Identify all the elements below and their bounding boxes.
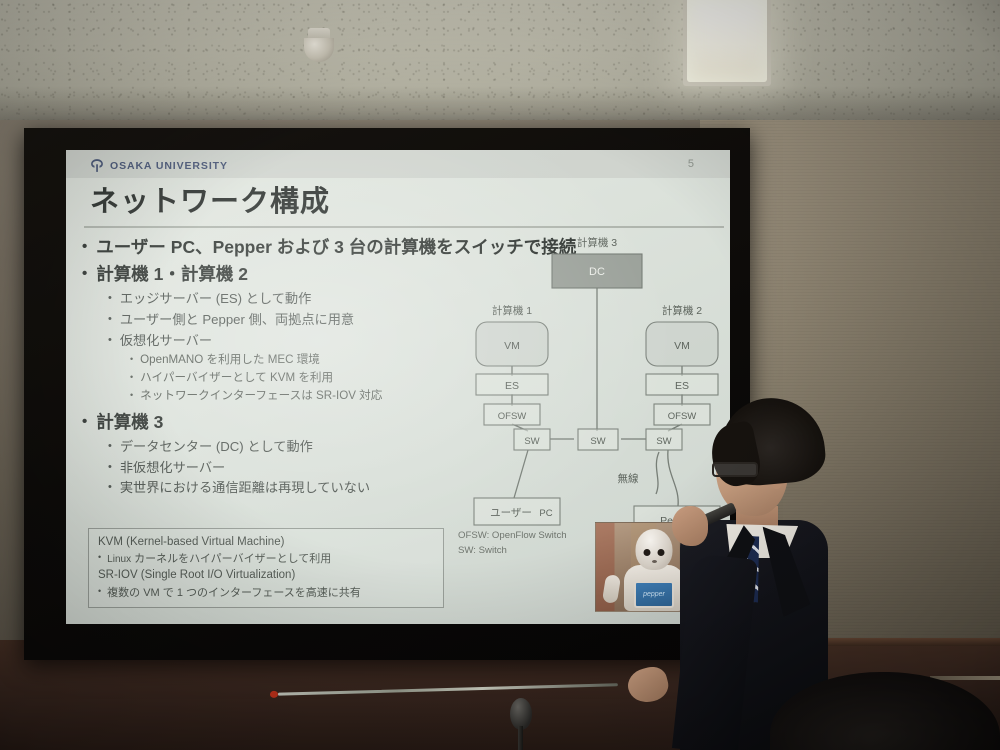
pepper-head bbox=[636, 529, 673, 570]
bullet-item: •データセンター (DC) として動作 bbox=[108, 438, 486, 457]
bullet-item: •実世界における通信距離は再現していない bbox=[108, 479, 486, 498]
bullet-marker: • bbox=[108, 479, 112, 498]
bullet-text: 仮想化サーバー bbox=[120, 332, 212, 351]
bullet-text: 計算機 1・計算機 2 bbox=[96, 263, 248, 286]
node-dc-label: DC bbox=[589, 266, 605, 278]
node-sw-center-label: SW bbox=[590, 436, 605, 447]
bullet-marker: • bbox=[82, 263, 87, 286]
legend-item-ofsw: OFSW: OpenFlow Switch bbox=[458, 529, 567, 543]
bullet-marker: • bbox=[108, 311, 112, 330]
bullet-text: 実世界における通信距離は再現していない bbox=[120, 479, 370, 498]
bullet-item: •仮想化サーバー bbox=[108, 332, 486, 351]
bullet-text: OpenMANO を利用した MEC 環境 bbox=[140, 352, 320, 369]
bullet-marker: • bbox=[130, 388, 133, 405]
pepper-mouth bbox=[652, 560, 657, 563]
bullet-list: •ユーザー PC、Pepper および 3 台の計算機をスイッチで接続 •計算機… bbox=[82, 236, 486, 500]
legend-item-sw: SW: Switch bbox=[458, 544, 567, 558]
fluorescent-ceiling-light bbox=[683, 0, 771, 86]
note-body-kvm-text: カーネルをハイパーバイザーとして利用 bbox=[131, 553, 331, 565]
bullet-item: •ユーザー側と Pepper 側、両拠点に用意 bbox=[108, 311, 486, 330]
ceiling bbox=[0, 0, 1000, 132]
bullet-marker: • bbox=[130, 370, 133, 387]
note-body-sriov-text: 複数の VM で 1 つのインターフェースを高速に共有 bbox=[107, 585, 361, 602]
bullet-item: •ネットワークインターフェースは SR-IOV 対応 bbox=[130, 388, 486, 405]
bullet-item: •非仮想化サーバー bbox=[108, 459, 486, 478]
bullet-item: •計算機 3 bbox=[82, 411, 486, 434]
projection-screen-frame: OSAKA UNIVERSITY 5 ネットワーク構成 •ユーザー PC、Pep… bbox=[24, 128, 750, 660]
pepper-chest-tablet: pepper bbox=[634, 581, 674, 608]
bullet-text: ハイパーバイザーとして KVM を利用 bbox=[140, 370, 333, 387]
note-body-sriov: • 複数の VM で 1 つのインターフェースを高速に共有 bbox=[98, 585, 434, 602]
bullet-text: エッジサーバー (ES) として動作 bbox=[120, 290, 311, 309]
machine3-label: 計算機 3 bbox=[577, 236, 617, 249]
bullet-item: •エッジサーバー (ES) として動作 bbox=[108, 290, 486, 309]
node-es-right-label: ES bbox=[675, 380, 689, 392]
bullet-marker: • bbox=[108, 438, 112, 457]
bullet-marker: • bbox=[108, 290, 112, 309]
note-heading-sriov: SR-IOV (Single Root I/O Virtualization) bbox=[98, 567, 434, 584]
link-sw-pepper-wireless bbox=[668, 450, 678, 506]
bullet-text: データセンター (DC) として動作 bbox=[120, 438, 313, 457]
osaka-university-tree-icon bbox=[90, 158, 104, 173]
presenter-glasses bbox=[712, 462, 758, 477]
slide-title: ネットワーク構成 bbox=[90, 178, 330, 220]
bullet-item: •OpenMANO を利用した MEC 環境 bbox=[130, 352, 486, 369]
bullet-marker: • bbox=[108, 332, 112, 351]
node-user-pc-label-en: PC bbox=[539, 508, 552, 519]
bullet-item: •ハイパーバイザーとして KVM を利用 bbox=[130, 370, 486, 387]
node-user-pc-label-jp: ユーザー bbox=[490, 507, 532, 519]
note-bullet-marker: • bbox=[98, 551, 101, 568]
node-ofsw-left-label: OFSW bbox=[498, 411, 527, 422]
link-sw-userpc bbox=[514, 450, 528, 498]
bullet-marker: • bbox=[82, 236, 87, 259]
note-body-kvm: • Linux カーネルをハイパーバイザーとして利用 bbox=[98, 551, 434, 568]
bullet-item: •計算機 1・計算機 2 bbox=[82, 263, 486, 286]
bullet-text: ユーザー側と Pepper 側、両拠点に用意 bbox=[120, 311, 354, 330]
note-heading-kvm: KVM (Kernel-based Virtual Machine) bbox=[98, 534, 434, 551]
osaka-university-logo: OSAKA UNIVERSITY bbox=[90, 158, 228, 173]
note-bullet-marker: • bbox=[98, 585, 101, 602]
bullet-text: 非仮想化サーバー bbox=[120, 459, 225, 478]
bullet-marker: • bbox=[130, 352, 133, 369]
logo-text: OSAKA UNIVERSITY bbox=[110, 160, 228, 172]
node-vm-left-label: VM bbox=[504, 340, 520, 352]
node-sw-left-label: SW bbox=[524, 436, 539, 447]
pointer-tip bbox=[270, 691, 278, 698]
bullet-item: •ユーザー PC、Pepper および 3 台の計算機をスイッチで接続 bbox=[82, 236, 486, 259]
node-sw-right-label: SW bbox=[656, 436, 671, 447]
bullet-marker: • bbox=[108, 459, 112, 478]
diagram-legend: OFSW: OpenFlow Switch SW: Switch bbox=[458, 529, 567, 558]
slide-page-number: 5 bbox=[688, 158, 694, 170]
pepper-eye-right bbox=[658, 549, 665, 556]
terminology-note-box: KVM (Kernel-based Virtual Machine) • Lin… bbox=[88, 528, 444, 609]
node-es-left-label: ES bbox=[505, 380, 519, 392]
presentation-slide: OSAKA UNIVERSITY 5 ネットワーク構成 •ユーザー PC、Pep… bbox=[66, 150, 730, 624]
note-body-kvm-prefix: Linux bbox=[107, 554, 131, 565]
wireless-label: 無線 bbox=[618, 472, 639, 485]
wireless-squiggle bbox=[656, 452, 659, 494]
title-divider bbox=[84, 226, 724, 228]
pepper-tablet-text: pepper bbox=[643, 591, 665, 598]
bullet-text: 計算機 3 bbox=[96, 411, 163, 434]
presenter-hand-holding-mic bbox=[672, 506, 708, 546]
node-vm-right-label: VM bbox=[674, 340, 690, 352]
pepper-eye-left bbox=[644, 549, 651, 556]
microphone-stem bbox=[518, 726, 523, 750]
lecture-room-scene: OSAKA UNIVERSITY 5 ネットワーク構成 •ユーザー PC、Pep… bbox=[0, 0, 1000, 750]
smoke-detector-icon bbox=[303, 28, 335, 64]
machine1-label: 計算機 1 bbox=[492, 304, 532, 317]
bullet-text: ネットワークインターフェースは SR-IOV 対応 bbox=[140, 388, 382, 405]
machine2-label: 計算機 2 bbox=[662, 304, 702, 317]
bullet-marker: • bbox=[82, 411, 87, 434]
table-microphone bbox=[508, 698, 534, 750]
